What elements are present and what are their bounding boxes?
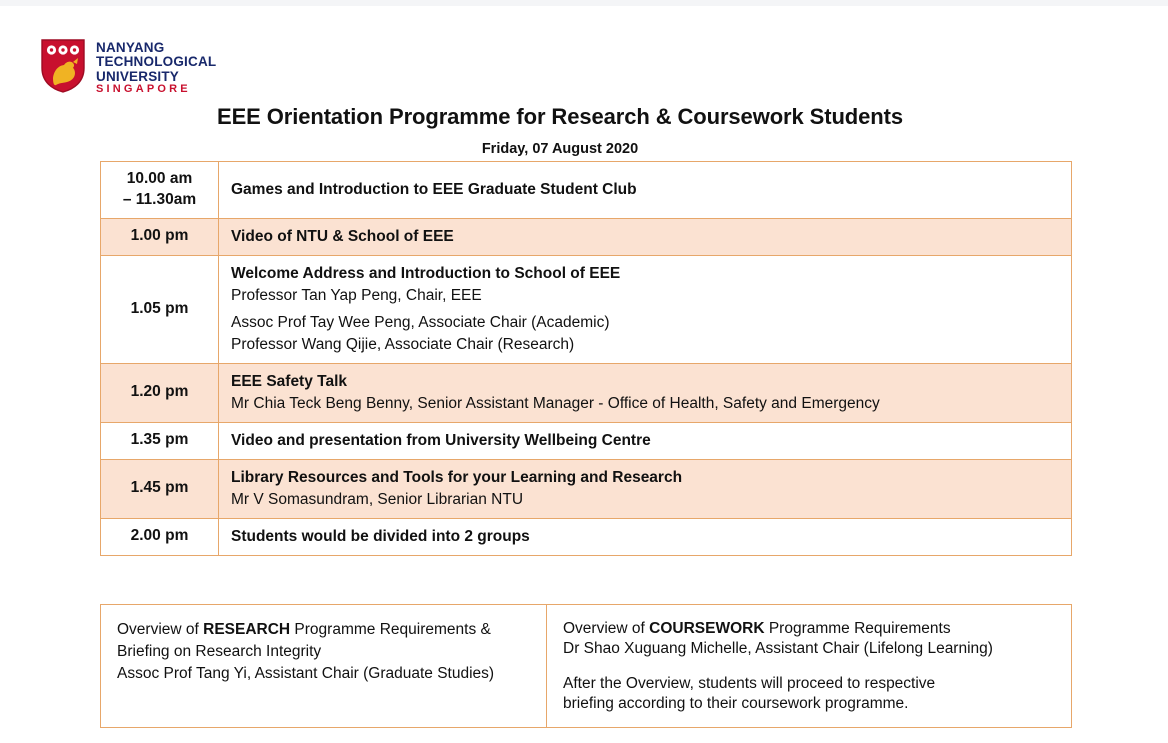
schedule-row: 2.00 pmStudents would be divided into 2 … xyxy=(101,518,1072,555)
breakout-research-column: Overview of RESEARCH Programme Requireme… xyxy=(101,605,546,727)
schedule-item-speaker: Professor Tan Yap Peng, Chair, EEE xyxy=(231,285,1059,307)
schedule-description-cell: Video and presentation from University W… xyxy=(219,422,1072,459)
schedule-row: 1.05 pmWelcome Address and Introduction … xyxy=(101,255,1072,363)
ntu-crest-icon xyxy=(40,38,86,94)
schedule-time-cell: 10.00 am– 11.30am xyxy=(101,162,219,219)
coursework-line1-post: Programme Requirements xyxy=(765,620,951,637)
coursework-line-1: Overview of COURSEWORK Programme Require… xyxy=(563,619,1055,639)
schedule-time-line: 1.00 pm xyxy=(113,226,206,247)
schedule-row: 1.20 pmEEE Safety TalkMr Chia Teck Beng … xyxy=(101,363,1072,422)
schedule-row: 1.35 pmVideo and presentation from Unive… xyxy=(101,422,1072,459)
research-line-1: Overview of RESEARCH Programme Requireme… xyxy=(117,619,530,641)
schedule-row: 1.00 pmVideo of NTU & School of EEE xyxy=(101,218,1072,255)
schedule-time-line: 10.00 am xyxy=(113,169,206,190)
schedule-time-cell: 2.00 pm xyxy=(101,518,219,555)
schedule-time-cell: 1.20 pm xyxy=(101,363,219,422)
ntu-logo: NANYANG TECHNOLOGICAL UNIVERSITY SINGAPO… xyxy=(40,38,216,96)
schedule-item-speaker: Assoc Prof Tay Wee Peng, Associate Chair… xyxy=(231,312,1059,334)
schedule-description-cell: Library Resources and Tools for your Lea… xyxy=(219,459,1072,518)
schedule-description-cell: Video of NTU & School of EEE xyxy=(219,218,1072,255)
schedule-item-title: Games and Introduction to EEE Graduate S… xyxy=(231,179,1059,201)
ntu-country-label: SINGAPORE xyxy=(96,84,216,96)
coursework-line1-pre: Overview of xyxy=(563,620,649,637)
schedule-description-cell: Welcome Address and Introduction to Scho… xyxy=(219,255,1072,363)
schedule-time-cell: 1.00 pm xyxy=(101,218,219,255)
schedule-item-title: Video of NTU & School of EEE xyxy=(231,226,1059,248)
research-line1-pre: Overview of xyxy=(117,621,203,638)
schedule-time-line: 1.35 pm xyxy=(113,430,206,451)
schedule-description-cell: Students would be divided into 2 groups xyxy=(219,518,1072,555)
schedule-table-body: 10.00 am– 11.30amGames and Introduction … xyxy=(101,162,1072,556)
schedule-table: 10.00 am– 11.30amGames and Introduction … xyxy=(100,161,1072,556)
schedule-item-speaker: Mr Chia Teck Beng Benny, Senior Assistan… xyxy=(231,393,1059,415)
schedule-time-line: 1.45 pm xyxy=(113,478,206,499)
schedule-time-line: 1.05 pm xyxy=(113,299,206,320)
research-line-2: Briefing on Research Integrity xyxy=(117,641,530,663)
research-line-3: Assoc Prof Tang Yi, Assistant Chair (Gra… xyxy=(117,663,530,685)
schedule-row: 1.45 pmLibrary Resources and Tools for y… xyxy=(101,459,1072,518)
schedule-item-title: Welcome Address and Introduction to Scho… xyxy=(231,263,1059,285)
document-page: NANYANG TECHNOLOGICAL UNIVERSITY SINGAPO… xyxy=(0,6,1168,743)
schedule-row: 10.00 am– 11.30amGames and Introduction … xyxy=(101,162,1072,219)
breakout-section: Overview of RESEARCH Programme Requireme… xyxy=(100,604,1072,728)
ntu-name-line-3: UNIVERSITY xyxy=(96,70,216,84)
ntu-name-line-1: NANYANG xyxy=(96,41,216,55)
schedule-item-title: Library Resources and Tools for your Lea… xyxy=(231,467,1059,489)
breakout-coursework-column: Overview of COURSEWORK Programme Require… xyxy=(546,605,1071,727)
schedule-time-cell: 1.35 pm xyxy=(101,422,219,459)
schedule-time-cell: 1.45 pm xyxy=(101,459,219,518)
page-date: Friday, 07 August 2020 xyxy=(0,141,1120,157)
research-emphasis: RESEARCH xyxy=(203,621,290,638)
ntu-wordmark: NANYANG TECHNOLOGICAL UNIVERSITY SINGAPO… xyxy=(96,38,216,96)
schedule-time-cell: 1.05 pm xyxy=(101,255,219,363)
schedule-time-line: – 11.30am xyxy=(113,190,206,211)
schedule-item-speaker: Professor Wang Qijie, Associate Chair (R… xyxy=(231,334,1059,356)
schedule-description-cell: EEE Safety TalkMr Chia Teck Beng Benny, … xyxy=(219,363,1072,422)
schedule-item-speaker: Mr V Somasundram, Senior Librarian NTU xyxy=(231,489,1059,511)
coursework-emphasis: COURSEWORK xyxy=(649,620,764,637)
research-line1-post: Programme Requirements & xyxy=(290,621,491,638)
schedule-time-line: 2.00 pm xyxy=(113,526,206,547)
schedule-time-line: 1.20 pm xyxy=(113,382,206,403)
schedule-description-cell: Games and Introduction to EEE Graduate S… xyxy=(219,162,1072,219)
schedule-item-title: EEE Safety Talk xyxy=(231,371,1059,393)
schedule-item-title: Video and presentation from University W… xyxy=(231,430,1059,452)
page-title: EEE Orientation Programme for Research &… xyxy=(0,104,1120,130)
coursework-line-2: Dr Shao Xuguang Michelle, Assistant Chai… xyxy=(563,639,1055,659)
ntu-name-line-2: TECHNOLOGICAL xyxy=(96,55,216,69)
schedule-item-title: Students would be divided into 2 groups xyxy=(231,526,1059,548)
coursework-note-line-2: briefing according to their coursework p… xyxy=(563,694,1055,714)
coursework-note-line-1: After the Overview, students will procee… xyxy=(563,674,1055,694)
